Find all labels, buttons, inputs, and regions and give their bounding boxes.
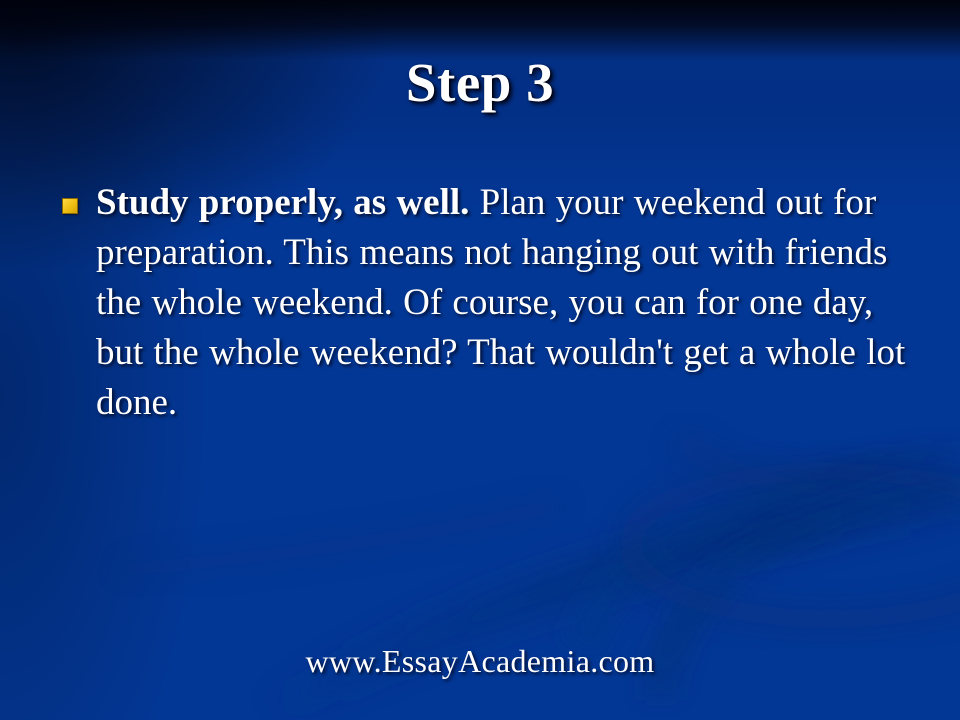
bullet-list-item: Study properly, as well. Plan your weeke… [56, 178, 926, 428]
bullet-text: Study properly, as well. Plan your weeke… [96, 178, 926, 428]
square-bullet-icon [62, 198, 78, 214]
slide-title: Step 3 [0, 54, 960, 112]
presentation-slide: Step 3 Study properly, as well. Plan you… [0, 0, 960, 720]
bullet-lead-in: Study properly, as well. [96, 182, 469, 223]
footer-website: www.EssayAcademia.com [0, 643, 960, 680]
slide-body: Study properly, as well. Plan your weeke… [56, 178, 926, 428]
